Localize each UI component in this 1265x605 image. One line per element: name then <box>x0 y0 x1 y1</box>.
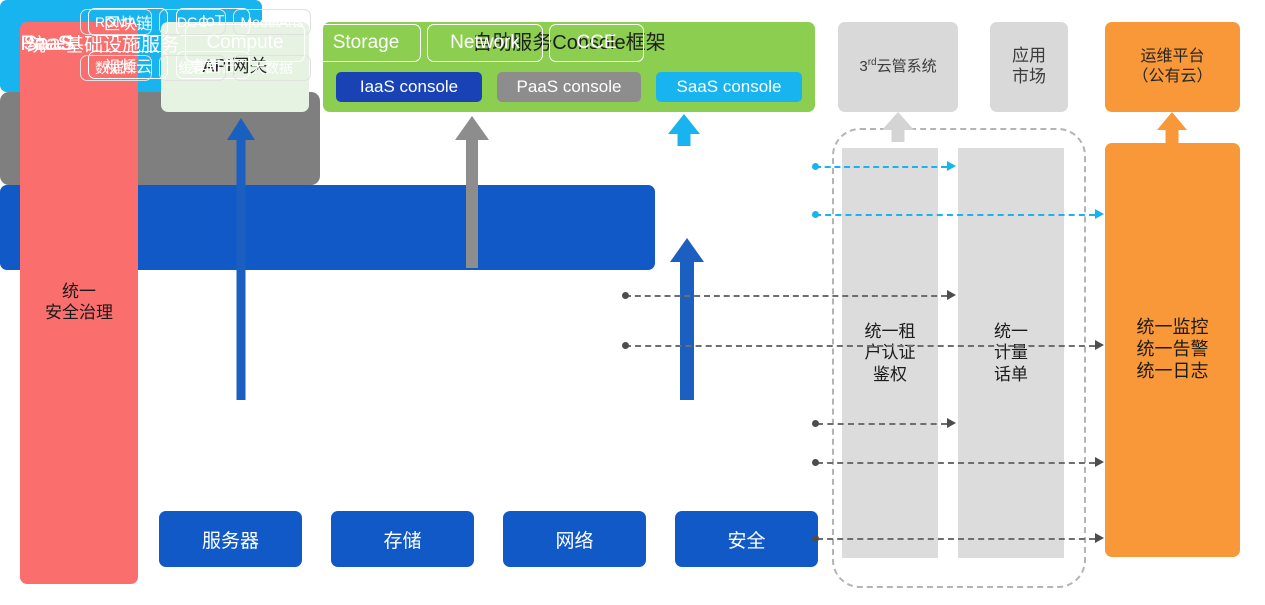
arrow-shared-to-third-party <box>882 112 914 142</box>
dashed-resources-ops-origin-dot <box>812 535 819 542</box>
dashed-infra-ops-arrowhead <box>1095 457 1104 467</box>
dashed-paas-to-ops <box>625 345 1095 347</box>
paas-service-database[interactable]: 数据库 <box>80 55 152 81</box>
app-market-line2: 市场 <box>1012 67 1046 88</box>
dashed-saas-ops-origin-dot <box>812 211 819 218</box>
security-governance-line1: 统一 <box>45 282 113 303</box>
ops-platform-header-label: 运维平台 （公有云） <box>1132 47 1212 86</box>
resource-security-label: 安全 <box>727 526 765 553</box>
resource-storage-box[interactable]: 存储 <box>331 511 474 567</box>
app-market-label: 应用 市场 <box>1012 46 1046 87</box>
unified-tenant-auth-column[interactable]: 统一租 户认证 鉴权 <box>842 148 938 558</box>
tenant-auth-line3: 鉴权 <box>865 364 916 385</box>
tpcm-suffix: 云管系统 <box>877 58 937 75</box>
metering-line3: 话单 <box>994 364 1028 385</box>
infra-service-compute-label: Compute <box>206 32 283 54</box>
tpcm-prefix: 3 <box>859 58 867 75</box>
third-party-cloud-management-label: 3rd云管系统 <box>859 57 936 76</box>
resource-storage-label: 存储 <box>383 526 421 553</box>
arrow-infra-to-api-gateway <box>227 118 255 400</box>
iaas-console-label: IaaS console <box>360 77 458 98</box>
infra-service-storage-label: Storage <box>333 32 400 54</box>
iaas-console-chip[interactable]: IaaS console <box>336 72 482 102</box>
tpcm-superscript: rd <box>868 57 877 68</box>
dashed-paas-ops-origin-dot <box>622 342 629 349</box>
infra-service-storage[interactable]: Storage <box>311 24 421 62</box>
infra-service-network-label: Network <box>450 32 520 54</box>
dashed-infra-to-tenant-auth <box>817 423 947 425</box>
tenant-auth-line1: 统一租 <box>865 321 916 342</box>
infra-service-network[interactable]: Network <box>427 24 543 62</box>
arrow-paas-to-console <box>455 116 489 268</box>
saas-console-chip[interactable]: SaaS console <box>656 72 802 102</box>
dashed-saas-auth-arrowhead <box>947 161 956 171</box>
dashed-infra-to-ops <box>817 462 1095 464</box>
app-market-box[interactable]: 应用 市场 <box>990 22 1068 112</box>
dashed-saas-to-ops <box>815 214 1095 216</box>
paas-service-roma-label: ROMA <box>95 14 137 30</box>
metering-line1: 统一 <box>994 321 1028 342</box>
dashed-saas-ops-arrowhead <box>1095 209 1104 219</box>
paas-console-chip[interactable]: PaaS console <box>497 72 641 102</box>
resource-security-box[interactable]: 安全 <box>675 511 818 567</box>
infra-service-cce-label: CCE <box>576 32 616 54</box>
dashed-resources-ops-arrowhead <box>1095 533 1104 543</box>
third-party-cloud-management-box[interactable]: 3rd云管系统 <box>838 22 958 112</box>
arrow-ops-body-to-header <box>1157 112 1187 146</box>
arrow-saas-to-console <box>668 114 700 146</box>
dashed-paas-auth-arrowhead <box>947 290 956 300</box>
resource-network-box[interactable]: 网络 <box>503 511 646 567</box>
ops-platform-capabilities-box[interactable]: 统一监控 统一告警 统一日志 <box>1105 143 1240 557</box>
ops-platform-line2: （公有云） <box>1132 67 1212 87</box>
dashed-infra-ops-origin-dot <box>812 459 819 466</box>
dashed-paas-ops-arrowhead <box>1095 340 1104 350</box>
ops-capability-monitoring: 统一监控 <box>1137 317 1209 339</box>
dashed-resources-to-ops <box>817 538 1095 540</box>
dashed-infra-auth-origin-dot <box>812 420 819 427</box>
ops-capability-log: 统一日志 <box>1137 361 1209 383</box>
app-market-line1: 应用 <box>1012 46 1046 67</box>
dashed-saas-to-tenant-auth <box>815 166 947 168</box>
ops-capability-alarm: 统一告警 <box>1137 339 1209 361</box>
dashed-paas-to-tenant-auth <box>625 295 947 297</box>
resource-server-label: 服务器 <box>202 526 259 553</box>
ops-platform-capabilities-label: 统一监控 统一告警 统一日志 <box>1137 317 1209 383</box>
security-governance-line2: 安全治理 <box>45 303 113 324</box>
paas-service-database-label: 数据库 <box>95 58 137 78</box>
dashed-paas-auth-origin-dot <box>622 292 629 299</box>
security-governance-label: 统一 安全治理 <box>45 282 113 323</box>
dashed-saas-auth-origin-dot <box>812 163 819 170</box>
unified-metering-billing-column[interactable]: 统一 计量 话单 <box>958 148 1064 558</box>
ops-platform-line1: 运维平台 <box>1132 47 1212 67</box>
resource-server-box[interactable]: 服务器 <box>159 511 302 567</box>
infra-service-compute[interactable]: Compute <box>185 24 305 62</box>
infra-service-cce[interactable]: CCE <box>549 24 644 62</box>
security-governance-pillar[interactable]: 统一 安全治理 <box>20 22 138 584</box>
unified-tenant-auth-label: 统一租 户认证 鉴权 <box>865 321 916 385</box>
ops-platform-header-box[interactable]: 运维平台 （公有云） <box>1105 22 1240 112</box>
architecture-diagram: 统一 安全治理 API网关 自助服务Console框架 IaaS console… <box>0 0 1265 605</box>
unified-metering-billing-label: 统一 计量 话单 <box>994 321 1028 385</box>
paas-console-label: PaaS console <box>517 77 622 98</box>
unified-infrastructure-label: 统一基础设施服务 <box>14 30 192 57</box>
saas-console-label: SaaS console <box>677 77 782 98</box>
resource-network-label: 网络 <box>555 526 593 553</box>
arrow-infra-to-saas <box>670 238 704 400</box>
dashed-infra-auth-arrowhead <box>947 418 956 428</box>
